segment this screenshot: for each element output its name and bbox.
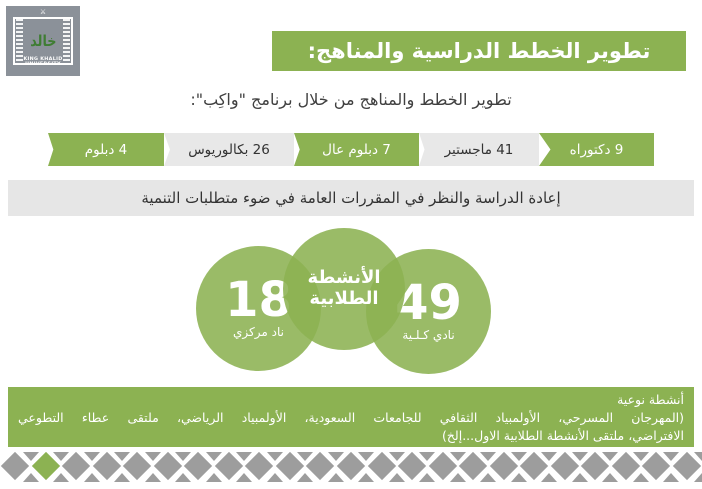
pipeline-item-label: 7 دبلوم عال bbox=[312, 142, 401, 158]
footer-triangle-icon bbox=[633, 473, 649, 482]
pipeline-item-label: 26 بكالوريوس bbox=[178, 142, 280, 158]
footer-triangle-icon bbox=[23, 473, 39, 482]
footer-triangle-icon bbox=[480, 452, 496, 461]
footer-triangle-icon bbox=[602, 452, 618, 461]
qualitative-activities-heading: أنشطة نوعية bbox=[18, 391, 684, 409]
header-banner: تطوير الخطط الدراسية والمناهج: bbox=[272, 31, 686, 71]
footer-triangle-icon bbox=[602, 473, 618, 482]
curriculum-review-text: إعادة الدراسة والنظر في المقررات العامة … bbox=[141, 189, 560, 207]
student-activities-group: 18 ناد مركزي 49 نادي كـلـية الأنشطة الطل… bbox=[0, 228, 702, 373]
footer-triangle-icon bbox=[297, 473, 313, 482]
footer-triangle-icon bbox=[145, 452, 161, 461]
footer-triangle-icon bbox=[53, 473, 69, 482]
student-activities-title-line1: الأنشطة bbox=[307, 268, 380, 289]
footer-triangle-icon bbox=[694, 452, 702, 461]
page-title: تطوير الخطط الدراسية والمناهج: bbox=[308, 39, 651, 63]
pipeline-item-label: 41 ماجستير bbox=[435, 142, 524, 158]
footer-triangle-icon bbox=[572, 473, 588, 482]
university-logo: ⚔ خالد KING KHALID UNIVERSITY bbox=[6, 6, 80, 76]
footer-triangle-icon bbox=[694, 473, 702, 482]
infographic-page: ⚔ خالد KING KHALID UNIVERSITY تطوير الخط… bbox=[0, 0, 702, 489]
footer-triangle-icon bbox=[541, 452, 557, 461]
footer-triangle-icon bbox=[206, 473, 222, 482]
footer-triangle-icon bbox=[114, 473, 130, 482]
section-subtitle: تطوير الخطط والمناهج من خلال برنامج "واك… bbox=[0, 90, 702, 109]
qualitative-activities-line1: (المهرجان المسرحي، الأولمبياد الثقافي لل… bbox=[18, 409, 684, 427]
logo-crown-icon: ⚔ bbox=[40, 9, 46, 16]
student-activities-circle: الأنشطة الطلابية bbox=[283, 228, 405, 350]
footer-triangle-icon bbox=[541, 473, 557, 482]
central-clubs-label: ناد مركزي bbox=[233, 325, 284, 339]
logo-institution-name: KING KHALID UNIVERSITY bbox=[10, 57, 75, 67]
footer-triangle-icon bbox=[84, 473, 100, 482]
college-clubs-count: 49 bbox=[395, 281, 462, 327]
college-clubs-label: نادي كـلـية bbox=[402, 328, 454, 342]
footer-triangle-icon bbox=[389, 473, 405, 482]
footer-triangle-icon bbox=[23, 452, 39, 461]
pipeline-item-higher-diploma: 7 دبلوم عال bbox=[294, 133, 419, 166]
logo-inner: ⚔ خالد KING KHALID UNIVERSITY bbox=[12, 12, 74, 70]
footer-triangle-icon bbox=[328, 473, 344, 482]
footer-pattern bbox=[0, 452, 702, 482]
pipeline-item-masters: 41 ماجستير bbox=[419, 133, 539, 166]
degree-pipeline: 9 دكتوراه 41 ماجستير 7 دبلوم عال 26 بكال… bbox=[48, 133, 654, 166]
logo-calligraphy: خالد bbox=[30, 34, 56, 49]
footer-triangle-icon bbox=[419, 473, 435, 482]
pipeline-item-diploma: 4 دبلوم bbox=[48, 133, 164, 166]
footer-triangle-icon bbox=[267, 473, 283, 482]
footer-triangle-icon bbox=[511, 473, 527, 482]
footer-triangle-icon bbox=[358, 452, 374, 461]
pipeline-item-label: 4 دبلوم bbox=[75, 142, 137, 158]
central-clubs-count: 18 bbox=[225, 278, 292, 324]
pipeline-item-bachelor: 26 بكالوريوس bbox=[164, 133, 294, 166]
footer-triangle-icon bbox=[419, 452, 435, 461]
qualitative-activities-block: أنشطة نوعية (المهرجان المسرحي، الأولمبيا… bbox=[8, 387, 694, 447]
footer-triangle-icon bbox=[450, 473, 466, 482]
pipeline-item-doctorate: 9 دكتوراه bbox=[539, 133, 654, 166]
footer-triangle-icon bbox=[236, 473, 252, 482]
footer-triangle-icon bbox=[175, 473, 191, 482]
footer-triangle-icon bbox=[358, 473, 374, 482]
curriculum-review-bar: إعادة الدراسة والنظر في المقررات العامة … bbox=[8, 180, 694, 216]
footer-triangle-icon bbox=[84, 452, 100, 461]
pipeline-item-label: 9 دكتوراه bbox=[560, 142, 634, 158]
footer-triangle-icon bbox=[663, 452, 679, 461]
student-activities-title-line2: الطلابية bbox=[309, 289, 378, 310]
footer-triangle-icon bbox=[145, 473, 161, 482]
footer-triangle-icon bbox=[480, 473, 496, 482]
qualitative-activities-line2: الافتراضي، ملتقى الأنشطة الطلابية الاول.… bbox=[18, 427, 684, 445]
footer-triangle-icon bbox=[663, 473, 679, 482]
